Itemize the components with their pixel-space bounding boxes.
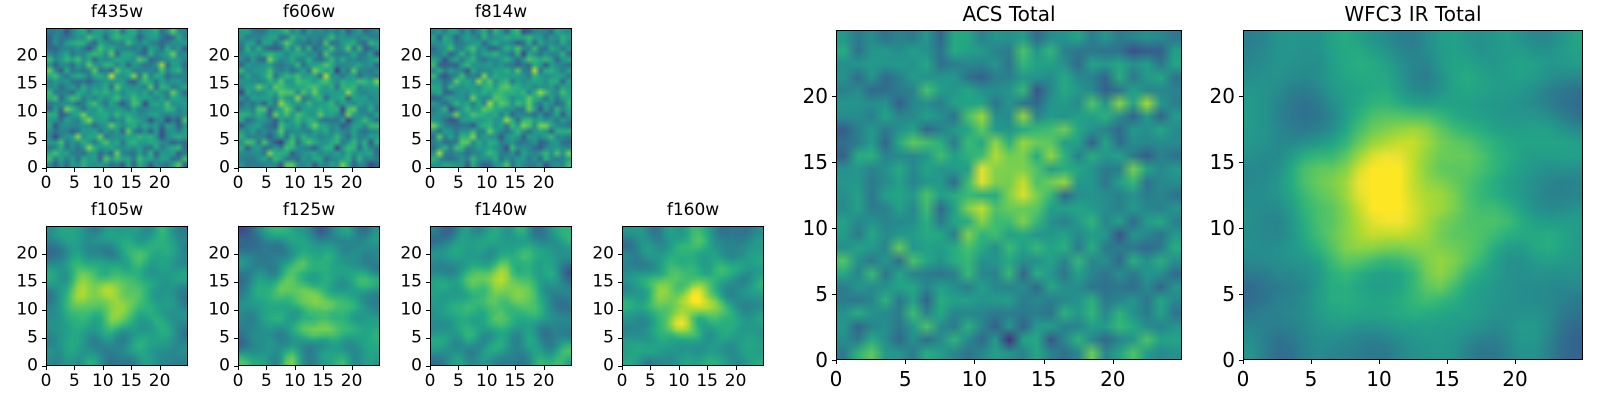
y-tick-label: 20 — [0, 48, 38, 65]
x-tick-label: 10 — [92, 373, 114, 390]
x-tick-label: 20 — [1100, 369, 1125, 389]
y-tick-label: 20 — [576, 246, 614, 263]
y-tick-label: 10 — [576, 302, 614, 319]
y-tick-label: 5 — [1197, 284, 1235, 304]
x-tick-label: 0 — [233, 175, 244, 192]
x-tick — [544, 168, 545, 172]
plot-area — [622, 226, 764, 366]
x-tick — [266, 366, 267, 370]
panel-f160w: f160w0510152005101520 — [576, 200, 810, 400]
y-tick-label: 5 — [192, 132, 230, 149]
x-tick-label: 5 — [261, 175, 272, 192]
x-tick — [515, 168, 516, 172]
y-tick — [426, 310, 430, 311]
figure-canvas: f435w0510152005101520f606w05101520051015… — [0, 0, 1600, 400]
x-tick — [103, 168, 104, 172]
y-tick-label: 0 — [1197, 350, 1235, 370]
x-tick-label: 0 — [617, 373, 628, 390]
x-tick-label: 20 — [149, 373, 171, 390]
y-tick-label: 0 — [384, 358, 422, 375]
y-tick-label: 10 — [384, 104, 422, 121]
x-tick-label: 0 — [830, 369, 843, 389]
y-tick-label: 10 — [0, 302, 38, 319]
heatmap-image — [837, 31, 1181, 359]
y-tick — [1239, 162, 1243, 163]
x-tick — [160, 168, 161, 172]
x-tick-label: 10 — [284, 175, 306, 192]
y-tick — [618, 366, 622, 367]
y-tick — [426, 112, 430, 113]
x-tick — [1515, 360, 1516, 364]
y-tick — [618, 338, 622, 339]
x-tick-label: 15 — [312, 175, 334, 192]
y-tick-label: 10 — [790, 218, 828, 238]
x-tick — [650, 366, 651, 370]
y-tick-label: 15 — [192, 76, 230, 93]
y-tick-label: 5 — [192, 330, 230, 347]
x-tick-label: 15 — [504, 175, 526, 192]
y-tick — [42, 56, 46, 57]
y-tick-label: 5 — [384, 132, 422, 149]
x-tick — [74, 168, 75, 172]
y-tick — [42, 338, 46, 339]
x-tick-label: 20 — [341, 373, 363, 390]
y-tick — [426, 366, 430, 367]
x-tick — [622, 366, 623, 370]
x-tick-label: 5 — [453, 175, 464, 192]
x-tick-label: 20 — [725, 373, 747, 390]
y-tick-label: 15 — [576, 274, 614, 291]
y-tick-label: 0 — [576, 358, 614, 375]
y-tick — [234, 56, 238, 57]
x-tick — [46, 366, 47, 370]
y-tick-label: 10 — [0, 104, 38, 121]
y-tick — [832, 162, 836, 163]
x-tick-label: 0 — [41, 373, 52, 390]
y-tick — [832, 294, 836, 295]
x-tick — [295, 168, 296, 172]
plot-area — [1243, 30, 1583, 360]
x-tick — [487, 168, 488, 172]
y-tick — [832, 228, 836, 229]
x-tick — [736, 366, 737, 370]
x-tick-label: 15 — [120, 373, 142, 390]
x-tick — [352, 366, 353, 370]
y-tick — [1239, 360, 1243, 361]
x-tick-label: 20 — [1502, 369, 1527, 389]
x-tick — [160, 366, 161, 370]
x-tick — [836, 360, 837, 364]
heatmap-image — [47, 29, 187, 167]
y-tick — [1239, 228, 1243, 229]
x-tick-label: 20 — [533, 175, 555, 192]
x-tick-label: 5 — [899, 369, 912, 389]
x-tick — [323, 168, 324, 172]
y-tick-label: 20 — [384, 48, 422, 65]
y-tick — [42, 366, 46, 367]
x-tick-label: 10 — [92, 175, 114, 192]
x-tick — [238, 168, 239, 172]
y-tick-label: 0 — [192, 358, 230, 375]
x-tick-label: 10 — [668, 373, 690, 390]
x-tick — [1379, 360, 1380, 364]
y-tick — [426, 254, 430, 255]
plot-area — [430, 28, 572, 168]
y-tick-label: 20 — [192, 246, 230, 263]
x-tick — [131, 168, 132, 172]
x-tick-label: 10 — [476, 373, 498, 390]
y-tick-label: 15 — [0, 76, 38, 93]
x-tick-label: 5 — [69, 175, 80, 192]
y-tick — [42, 168, 46, 169]
plot-area — [238, 226, 380, 366]
x-tick — [458, 366, 459, 370]
y-tick — [426, 282, 430, 283]
x-tick-label: 15 — [120, 175, 142, 192]
x-tick — [323, 366, 324, 370]
panel-wfc3-ir-total: WFC3 IR Total0510152005101520 — [1197, 4, 1600, 394]
y-tick-label: 5 — [0, 330, 38, 347]
y-tick — [1239, 96, 1243, 97]
x-tick — [679, 366, 680, 370]
y-tick-label: 20 — [790, 86, 828, 106]
panel-title: f814w — [384, 4, 618, 21]
y-tick — [426, 56, 430, 57]
y-tick — [234, 140, 238, 141]
y-tick-label: 0 — [0, 160, 38, 177]
y-tick-label: 0 — [384, 160, 422, 177]
y-tick — [618, 254, 622, 255]
x-tick-label: 0 — [41, 175, 52, 192]
x-tick-label: 15 — [1434, 369, 1459, 389]
y-tick-label: 0 — [192, 160, 230, 177]
x-tick — [1447, 360, 1448, 364]
y-tick — [1239, 294, 1243, 295]
x-tick-label: 0 — [425, 175, 436, 192]
y-tick — [234, 84, 238, 85]
y-tick — [426, 84, 430, 85]
plot-area — [430, 226, 572, 366]
panel-acs-total: ACS Total0510152005101520 — [790, 4, 1228, 394]
y-tick-label: 15 — [384, 76, 422, 93]
x-tick-label: 5 — [1305, 369, 1318, 389]
panel-title: WFC3 IR Total — [1197, 4, 1600, 24]
y-tick-label: 5 — [576, 330, 614, 347]
heatmap-image — [431, 227, 571, 365]
y-tick-label: 10 — [1197, 218, 1235, 238]
y-tick — [426, 168, 430, 169]
x-tick-label: 10 — [476, 175, 498, 192]
y-tick — [832, 360, 836, 361]
plot-area — [238, 28, 380, 168]
y-tick-label: 15 — [1197, 152, 1235, 172]
y-tick — [618, 310, 622, 311]
y-tick — [42, 254, 46, 255]
y-tick — [234, 366, 238, 367]
x-tick-label: 10 — [1366, 369, 1391, 389]
x-tick-label: 10 — [284, 373, 306, 390]
y-tick-label: 5 — [384, 330, 422, 347]
x-tick — [1243, 360, 1244, 364]
x-tick-label: 0 — [1237, 369, 1250, 389]
x-tick — [295, 366, 296, 370]
x-tick — [352, 168, 353, 172]
x-tick — [103, 366, 104, 370]
y-tick-label: 0 — [790, 350, 828, 370]
x-tick-label: 0 — [425, 373, 436, 390]
x-tick — [487, 366, 488, 370]
x-tick — [1113, 360, 1114, 364]
y-tick-label: 20 — [1197, 86, 1235, 106]
x-tick — [430, 366, 431, 370]
y-tick — [832, 96, 836, 97]
heatmap-image — [1244, 31, 1582, 359]
plot-area — [46, 28, 188, 168]
x-tick — [515, 366, 516, 370]
x-tick — [74, 366, 75, 370]
panel-f814w: f814w0510152005101520 — [384, 2, 618, 202]
x-tick — [46, 168, 47, 172]
x-tick-label: 20 — [149, 175, 171, 192]
x-tick — [905, 360, 906, 364]
y-tick — [42, 140, 46, 141]
x-tick-label: 15 — [504, 373, 526, 390]
y-tick-label: 10 — [192, 302, 230, 319]
panel-title: f160w — [576, 202, 810, 219]
x-tick-label: 10 — [962, 369, 987, 389]
y-tick — [618, 282, 622, 283]
x-tick — [544, 366, 545, 370]
y-tick — [234, 168, 238, 169]
y-tick — [426, 140, 430, 141]
y-tick — [234, 338, 238, 339]
x-tick-label: 0 — [233, 373, 244, 390]
x-tick-label: 20 — [533, 373, 555, 390]
y-tick-label: 10 — [384, 302, 422, 319]
x-tick-label: 5 — [261, 373, 272, 390]
y-tick — [42, 310, 46, 311]
y-tick — [42, 112, 46, 113]
y-tick-label: 15 — [790, 152, 828, 172]
y-tick-label: 5 — [790, 284, 828, 304]
plot-area — [46, 226, 188, 366]
x-tick — [458, 168, 459, 172]
y-tick — [426, 338, 430, 339]
heatmap-image — [431, 29, 571, 167]
x-tick — [238, 366, 239, 370]
y-tick-label: 20 — [384, 246, 422, 263]
x-tick — [430, 168, 431, 172]
heatmap-image — [623, 227, 763, 365]
x-tick-label: 20 — [341, 175, 363, 192]
heatmap-image — [239, 227, 379, 365]
y-tick-label: 0 — [0, 358, 38, 375]
y-tick-label: 20 — [192, 48, 230, 65]
y-tick — [234, 282, 238, 283]
x-tick — [1044, 360, 1045, 364]
plot-area — [836, 30, 1182, 360]
y-tick — [234, 254, 238, 255]
y-tick-label: 15 — [0, 274, 38, 291]
heatmap-image — [47, 227, 187, 365]
y-tick — [234, 112, 238, 113]
x-tick-label: 5 — [453, 373, 464, 390]
panel-title: ACS Total — [790, 4, 1228, 24]
y-tick-label: 20 — [0, 246, 38, 263]
x-tick-label: 5 — [645, 373, 656, 390]
x-tick-label: 15 — [312, 373, 334, 390]
x-tick-label: 15 — [696, 373, 718, 390]
x-tick — [974, 360, 975, 364]
y-tick — [42, 84, 46, 85]
x-tick — [1311, 360, 1312, 364]
x-tick — [131, 366, 132, 370]
y-tick-label: 10 — [192, 104, 230, 121]
y-tick-label: 15 — [384, 274, 422, 291]
x-tick-label: 5 — [69, 373, 80, 390]
y-tick-label: 15 — [192, 274, 230, 291]
y-tick-label: 5 — [0, 132, 38, 149]
y-tick — [42, 282, 46, 283]
x-tick — [707, 366, 708, 370]
heatmap-image — [239, 29, 379, 167]
x-tick-label: 15 — [1031, 369, 1056, 389]
y-tick — [234, 310, 238, 311]
x-tick — [266, 168, 267, 172]
